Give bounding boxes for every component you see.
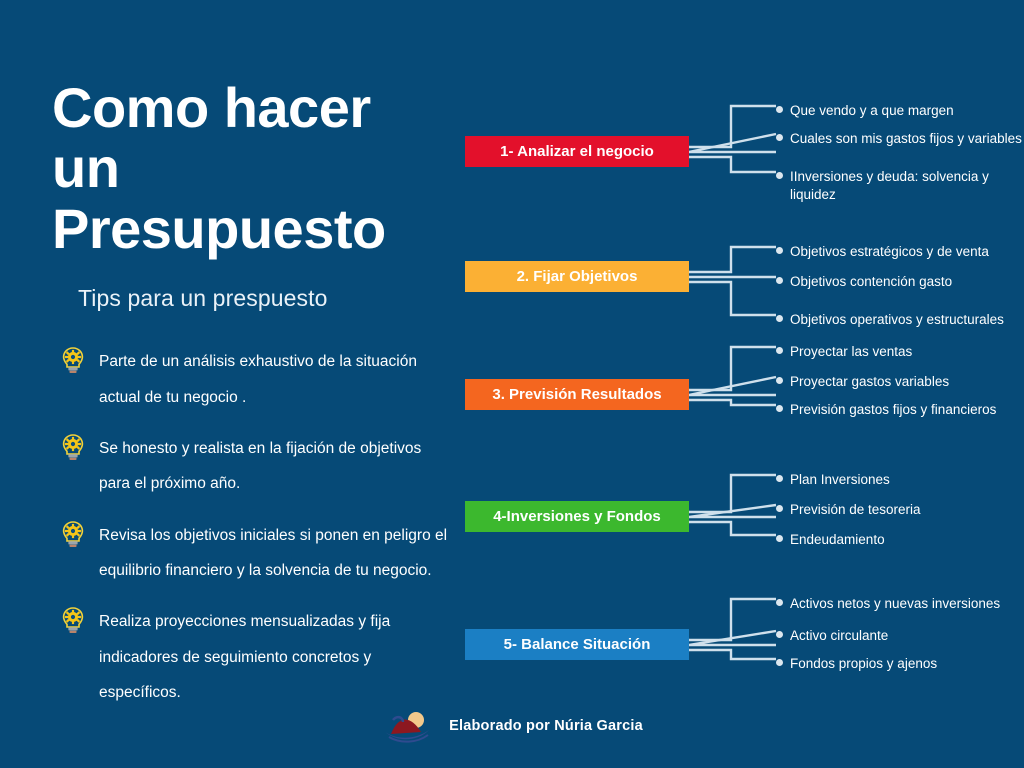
leaf-label: Objetivos contención gasto bbox=[790, 274, 952, 289]
bullet-dot-icon bbox=[776, 347, 783, 354]
bullet-dot-icon bbox=[776, 659, 783, 666]
connector-lines bbox=[689, 583, 789, 707]
leaf-label: Activos netos y nuevas inversiones bbox=[790, 596, 1000, 611]
leaf-item[interactable]: Activo circulante bbox=[776, 627, 1024, 645]
leaf-item[interactable]: Objetivos estratégicos y de venta bbox=[776, 243, 1024, 261]
leaf-item[interactable]: Plan Inversiones bbox=[776, 471, 1024, 489]
leaf-label: Previsión de tesoreria bbox=[790, 502, 921, 517]
tip-text: Revisa los objetivos iniciales si ponen … bbox=[99, 527, 447, 579]
tip-item: Revisa los objetivos iniciales si ponen … bbox=[52, 518, 452, 589]
bullet-dot-icon bbox=[776, 599, 783, 606]
category-box[interactable]: 4-Inversiones y Fondos bbox=[465, 501, 689, 532]
bullet-dot-icon bbox=[776, 315, 783, 322]
leaf-label: Proyectar gastos variables bbox=[790, 374, 949, 389]
bullet-dot-icon bbox=[776, 405, 783, 412]
leaf-items: Proyectar las ventasProyectar gastos var… bbox=[776, 333, 1024, 457]
tip-item: Se honesto y realista en la fijación de … bbox=[52, 431, 452, 502]
leaf-label: Proyectar las ventas bbox=[790, 344, 912, 359]
diagram-group: 1- Analizar el negocioQue vendo y a que … bbox=[455, 90, 1024, 214]
leaf-items: Plan InversionesPrevisión de tesoreriaEn… bbox=[776, 455, 1024, 579]
lightbulb-gear-icon bbox=[58, 519, 88, 549]
leaf-label: Activo circulante bbox=[790, 628, 888, 643]
leaf-label: IInversiones y deuda: solvencia y liquid… bbox=[790, 169, 989, 202]
leaf-item[interactable]: Fondos propios y ajenos bbox=[776, 655, 1024, 673]
diagram-group: 2. Fijar ObjetivosObjetivos estratégicos… bbox=[455, 215, 1024, 339]
bullet-dot-icon bbox=[776, 535, 783, 542]
leaf-items: Que vendo y a que margenCuales son mis g… bbox=[776, 90, 1024, 214]
category-box[interactable]: 3. Previsión Resultados bbox=[465, 379, 689, 410]
bullet-dot-icon bbox=[776, 277, 783, 284]
leaf-items: Objetivos estratégicos y de ventaObjetiv… bbox=[776, 215, 1024, 339]
leaf-item[interactable]: Proyectar las ventas bbox=[776, 343, 1024, 361]
leaf-item[interactable]: Objetivos contención gasto bbox=[776, 273, 1024, 291]
leaf-item[interactable]: Previsión de tesoreria bbox=[776, 501, 1024, 519]
diagram-group: 5- Balance SituaciónActivos netos y nuev… bbox=[455, 583, 1024, 707]
leaf-label: Previsión gastos fijos y financieros bbox=[790, 402, 996, 417]
leaf-label: Objetivos estratégicos y de venta bbox=[790, 244, 989, 259]
leaf-label: Plan Inversiones bbox=[790, 472, 890, 487]
leaf-item[interactable]: Endeudamiento bbox=[776, 531, 1024, 549]
leaf-item[interactable]: Proyectar gastos variables bbox=[776, 373, 1024, 391]
leaf-label: Fondos propios y ajenos bbox=[790, 656, 937, 671]
connector-lines bbox=[689, 333, 789, 457]
leaf-item[interactable]: Activos netos y nuevas inversiones bbox=[776, 595, 1024, 613]
connector-lines bbox=[689, 90, 789, 214]
connector-lines bbox=[689, 215, 789, 339]
mindmap-diagram: 1- Analizar el negocioQue vendo y a que … bbox=[455, 0, 1024, 768]
leaf-label: Objetivos operativos y estructurales bbox=[790, 312, 1004, 327]
bullet-dot-icon bbox=[776, 172, 783, 179]
bullet-dot-icon bbox=[776, 475, 783, 482]
bullet-dot-icon bbox=[776, 377, 783, 384]
diagram-group: 4-Inversiones y FondosPlan InversionesPr… bbox=[455, 455, 1024, 579]
category-box[interactable]: 5- Balance Situación bbox=[465, 629, 689, 660]
bullet-dot-icon bbox=[776, 631, 783, 638]
leaf-label: Cuales son mis gastos fijos y variables bbox=[790, 131, 1022, 146]
leaf-item[interactable]: Cuales son mis gastos fijos y variables bbox=[776, 130, 1024, 148]
leaf-label: Endeudamiento bbox=[790, 532, 885, 547]
diagram-group: 3. Previsión ResultadosProyectar las ven… bbox=[455, 333, 1024, 457]
leaf-item[interactable]: Que vendo y a que margen bbox=[776, 102, 1024, 120]
tips-list: Parte de un análisis exhaustivo de la si… bbox=[52, 344, 452, 710]
page-title: Como hacer un Presupuesto bbox=[52, 78, 422, 259]
tip-text: Se honesto y realista en la fijación de … bbox=[99, 440, 421, 492]
connector-lines bbox=[689, 455, 789, 579]
bullet-dot-icon bbox=[776, 505, 783, 512]
lightbulb-gear-icon bbox=[58, 432, 88, 462]
footer-credit: Elaborado por Núria Garcia bbox=[449, 718, 643, 734]
lightbulb-gear-icon bbox=[58, 605, 88, 635]
footer: Elaborado por Núria Garcia bbox=[0, 706, 1024, 746]
bullet-dot-icon bbox=[776, 106, 783, 113]
page-subtitle: Tips para un prespuesto bbox=[78, 285, 452, 312]
tip-text: Parte de un análisis exhaustivo de la si… bbox=[99, 353, 417, 405]
leaf-item[interactable]: Previsión gastos fijos y financieros bbox=[776, 401, 1024, 419]
lightbulb-gear-icon bbox=[58, 345, 88, 375]
mountain-sun-logo-icon bbox=[381, 706, 435, 746]
bullet-dot-icon bbox=[776, 247, 783, 254]
category-box[interactable]: 2. Fijar Objetivos bbox=[465, 261, 689, 292]
bullet-dot-icon bbox=[776, 134, 783, 141]
category-box[interactable]: 1- Analizar el negocio bbox=[465, 136, 689, 167]
leaf-items: Activos netos y nuevas inversionesActivo… bbox=[776, 583, 1024, 707]
tip-item: Realiza proyecciones mensualizadas y fij… bbox=[52, 604, 452, 710]
tip-text: Realiza proyecciones mensualizadas y fij… bbox=[99, 613, 390, 701]
leaf-item[interactable]: Objetivos operativos y estructurales bbox=[776, 311, 1024, 329]
tip-item: Parte de un análisis exhaustivo de la si… bbox=[52, 344, 452, 415]
left-panel: Como hacer un Presupuesto Tips para un p… bbox=[52, 78, 452, 726]
leaf-label: Que vendo y a que margen bbox=[790, 103, 954, 118]
leaf-item[interactable]: IInversiones y deuda: solvencia y liquid… bbox=[776, 168, 1024, 204]
